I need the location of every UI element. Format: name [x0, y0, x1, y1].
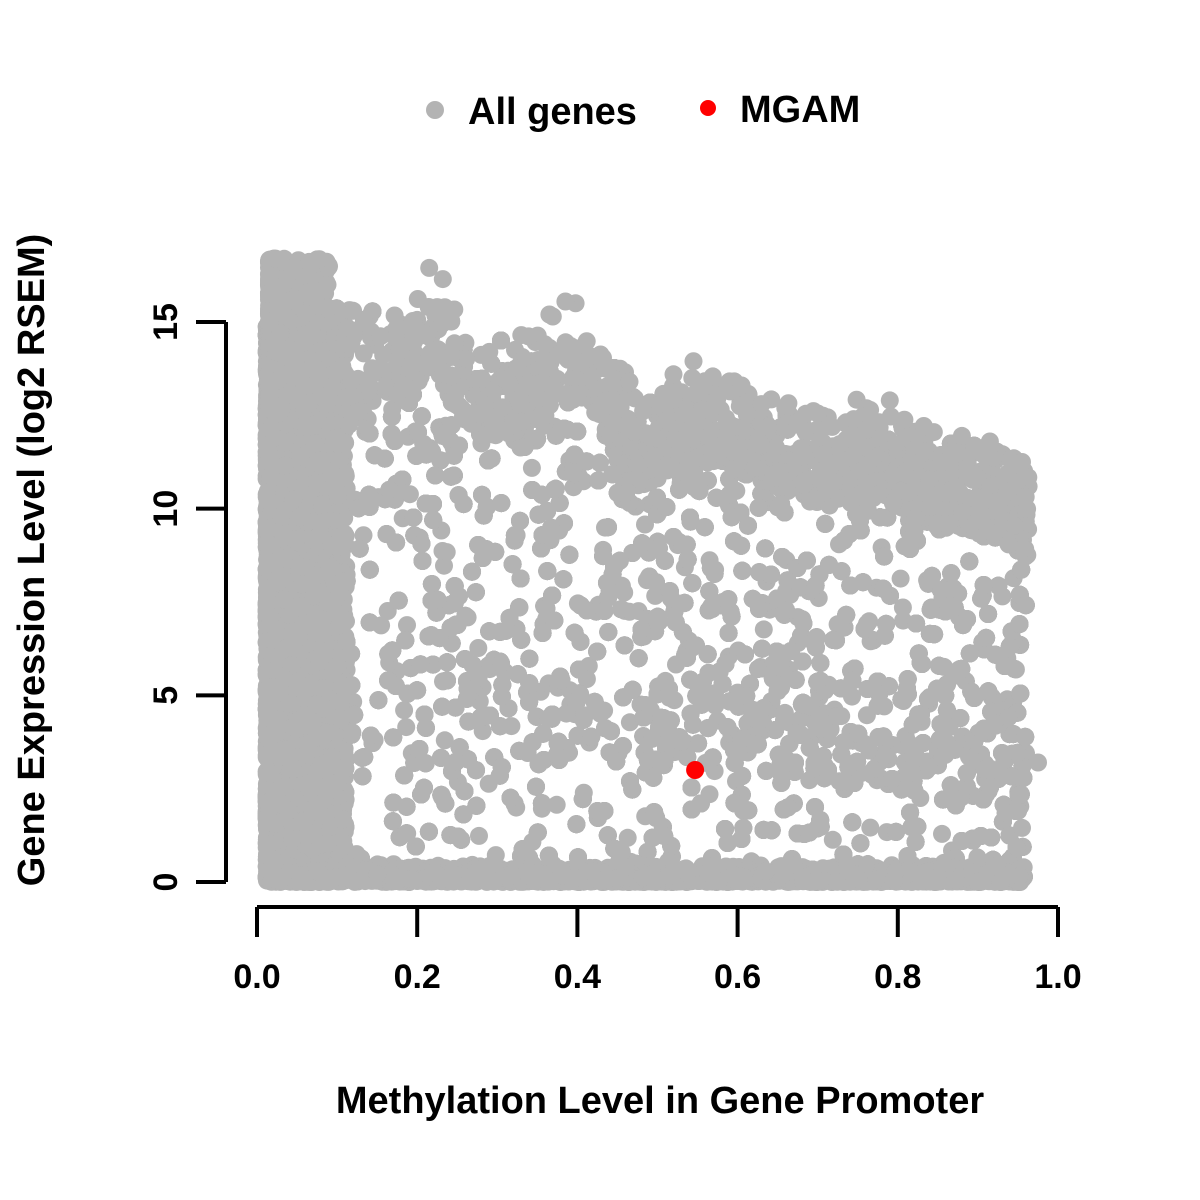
plot-canvas: 0.00.20.40.60.81.0051015 All genesMGAM M…: [0, 0, 1200, 1200]
x-tick-label: 1.0: [1034, 958, 1081, 996]
y-tick-label: 0: [147, 873, 185, 892]
y-tick-label: 5: [147, 686, 185, 705]
x-tick-label: 0.6: [714, 958, 761, 996]
legend-item-label: All genes: [468, 91, 637, 133]
x-tick-label: 0.8: [874, 958, 921, 996]
legend-item-label: MGAM: [740, 89, 860, 131]
y-tick-label: 15: [147, 303, 185, 341]
y-axis-title: Gene Expression Level (log2 RSEM): [11, 234, 53, 887]
x-axis-title: Methylation Level in Gene Promoter: [336, 1080, 984, 1122]
scatter-plot-figure: 0.00.20.40.60.81.0051015 All genesMGAM M…: [0, 0, 1200, 1200]
x-tick-label: 0.4: [554, 958, 601, 996]
x-tick-label: 0.0: [233, 958, 280, 996]
legend-marker-dot: [426, 101, 444, 119]
x-tick-label: 0.2: [394, 958, 441, 996]
y-tick-label: 10: [147, 490, 185, 528]
legend-marker-dot: [700, 100, 716, 116]
mgam-highlight-point[interactable]: [686, 761, 704, 779]
